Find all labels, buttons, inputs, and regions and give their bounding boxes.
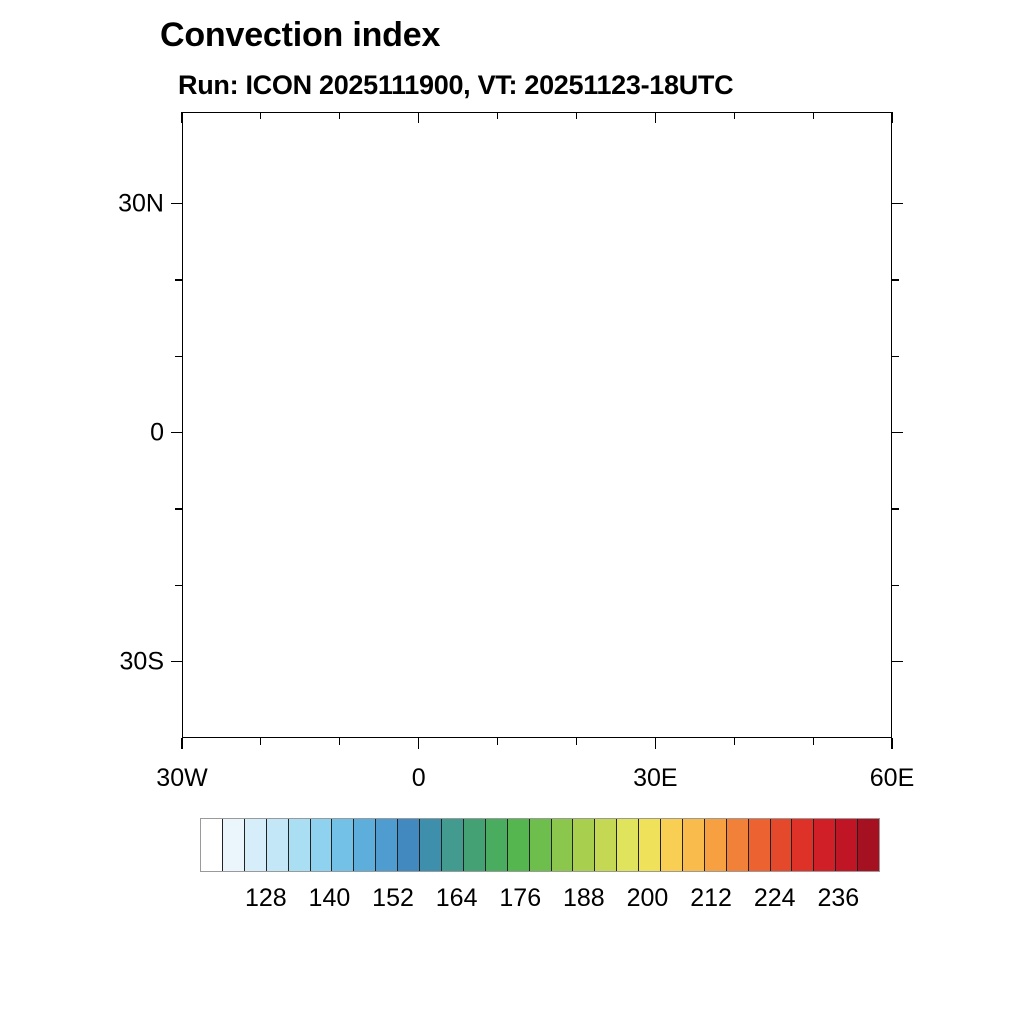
map-panel[interactable]	[182, 112, 892, 738]
y-tick-minor-right	[892, 279, 899, 280]
x-tick-major-top	[655, 112, 657, 123]
x-tick-minor	[734, 738, 735, 745]
colorbar-tick-label: 188	[563, 884, 605, 913]
y-tick-major	[171, 432, 182, 434]
colorbar-cell[interactable]	[332, 819, 354, 871]
x-axis-label: 0	[412, 764, 426, 793]
colorbar-cell[interactable]	[530, 819, 552, 871]
colorbar-cell[interactable]	[201, 819, 223, 871]
colorbar-cell[interactable]	[814, 819, 836, 871]
colorbar-cell[interactable]	[267, 819, 289, 871]
page-title: Convection index	[160, 18, 440, 52]
colorbar-cell[interactable]	[661, 819, 683, 871]
colorbar-cell[interactable]	[858, 819, 879, 871]
y-tick-minor	[175, 279, 182, 280]
x-tick-minor-top	[813, 112, 814, 119]
y-tick-minor-right	[892, 508, 899, 509]
y-tick-minor	[175, 508, 182, 509]
colorbar-tick-label: 164	[436, 884, 478, 913]
colorbar-tick-label: 128	[245, 884, 287, 913]
y-tick-major-right	[892, 203, 903, 205]
colorbar-cell[interactable]	[420, 819, 442, 871]
x-tick-major	[181, 738, 183, 749]
y-tick-major-right	[892, 661, 903, 663]
x-tick-minor-top	[260, 112, 261, 119]
colorbar-cell[interactable]	[727, 819, 749, 871]
colorbar-cell[interactable]	[639, 819, 661, 871]
colorbar-cell[interactable]	[792, 819, 814, 871]
colorbar-tick-label: 200	[627, 884, 669, 913]
colorbar-tick-label: 140	[309, 884, 351, 913]
colorbar-cell[interactable]	[595, 819, 617, 871]
colorbar-cell[interactable]	[573, 819, 595, 871]
x-axis-label: 30E	[633, 764, 677, 793]
x-axis-label: 30W	[156, 764, 207, 793]
x-tick-minor	[576, 738, 577, 745]
y-tick-major-right	[892, 432, 903, 434]
colorbar-tick-label: 152	[372, 884, 414, 913]
x-tick-major-top	[891, 112, 893, 123]
colorbar-cell[interactable]	[464, 819, 486, 871]
colorbar-cell[interactable]	[354, 819, 376, 871]
colorbar-cell[interactable]	[771, 819, 793, 871]
x-tick-major	[418, 738, 420, 749]
x-tick-major-top	[418, 112, 420, 123]
colorbar[interactable]	[200, 818, 880, 872]
x-tick-minor	[497, 738, 498, 745]
x-tick-major	[891, 738, 893, 749]
colorbar-cell[interactable]	[552, 819, 574, 871]
colorbar-cell[interactable]	[442, 819, 464, 871]
colorbar-cell[interactable]	[617, 819, 639, 871]
x-tick-minor	[339, 738, 340, 745]
colorbar-cell[interactable]	[836, 819, 858, 871]
colorbar-cell[interactable]	[311, 819, 333, 871]
convection-index-heatmap[interactable]	[182, 112, 892, 738]
colorbar-tick-label: 176	[499, 884, 541, 913]
x-tick-minor	[260, 738, 261, 745]
colorbar-tick-label: 224	[754, 884, 796, 913]
y-tick-minor-right	[892, 356, 899, 357]
colorbar-cell[interactable]	[486, 819, 508, 871]
colorbar-cell[interactable]	[223, 819, 245, 871]
x-tick-minor-top	[576, 112, 577, 119]
y-axis-label: 30N	[92, 189, 164, 218]
x-tick-major	[655, 738, 657, 749]
y-axis-label: 0	[92, 418, 164, 447]
figure-subtitle: Run: ICON 2025111900, VT: 20251123-18UTC	[178, 72, 733, 99]
colorbar-swatches[interactable]	[200, 818, 880, 872]
x-tick-minor-top	[497, 112, 498, 119]
colorbar-tick-label: 236	[817, 884, 859, 913]
y-tick-minor	[175, 356, 182, 357]
y-tick-major	[171, 203, 182, 205]
colorbar-cell[interactable]	[683, 819, 705, 871]
colorbar-cell[interactable]	[376, 819, 398, 871]
y-tick-minor-right	[892, 585, 899, 586]
colorbar-cell[interactable]	[289, 819, 311, 871]
colorbar-cell[interactable]	[508, 819, 530, 871]
colorbar-tick-label: 212	[690, 884, 732, 913]
colorbar-cell[interactable]	[749, 819, 771, 871]
figure-root: Convection index Run: ICON 2025111900, V…	[0, 0, 1024, 1024]
x-axis-label: 60E	[870, 764, 914, 793]
colorbar-cell[interactable]	[245, 819, 267, 871]
y-tick-minor	[175, 585, 182, 586]
x-tick-minor-top	[339, 112, 340, 119]
x-tick-major-top	[181, 112, 183, 123]
colorbar-cell[interactable]	[705, 819, 727, 871]
colorbar-cell[interactable]	[398, 819, 420, 871]
x-tick-minor-top	[734, 112, 735, 119]
y-axis-label: 30S	[92, 647, 164, 676]
x-tick-minor	[813, 738, 814, 745]
y-tick-major	[171, 661, 182, 663]
